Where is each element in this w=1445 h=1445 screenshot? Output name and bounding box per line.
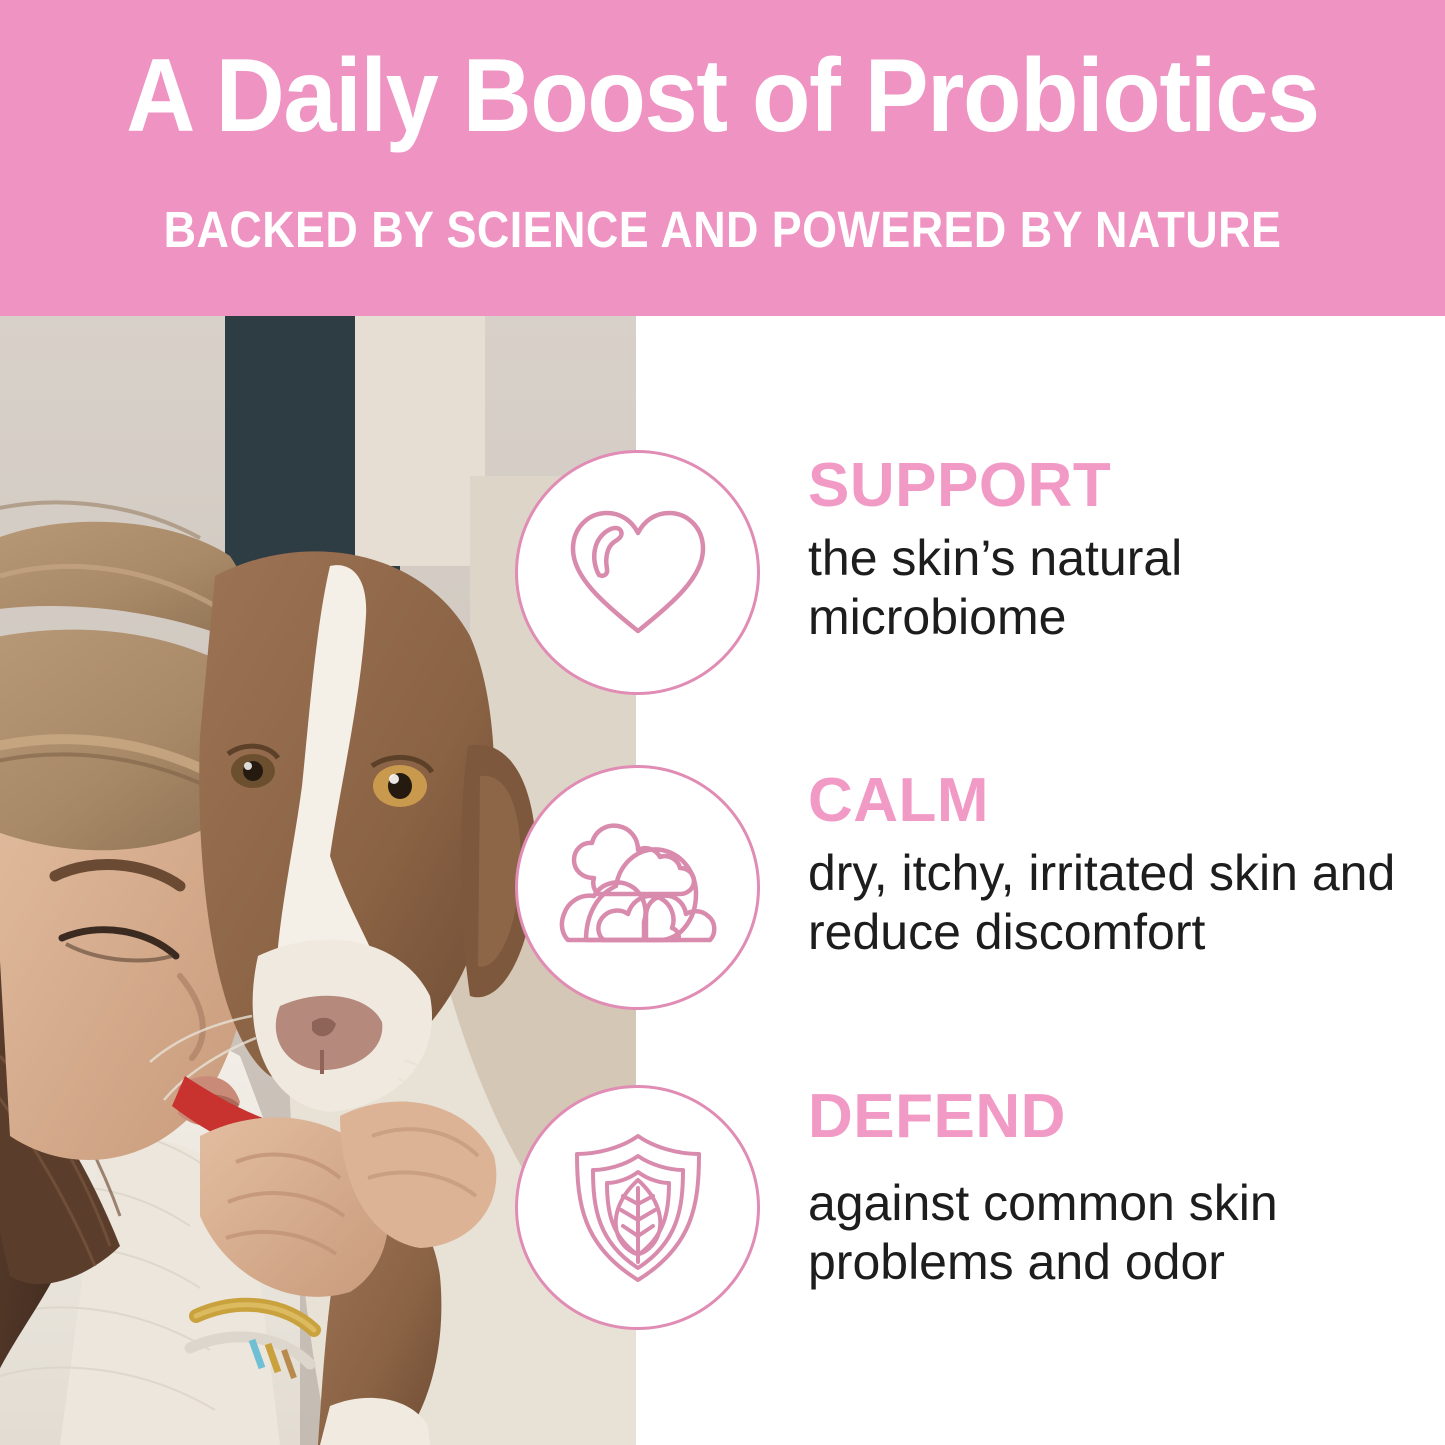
benefit-text-block: DEFEND against common skin problems and … [808, 1085, 1428, 1292]
heart-icon [515, 450, 760, 695]
probiotics-infographic: A Daily Boost of Probiotics BACKED BY SC… [0, 0, 1445, 1445]
benefit-description: dry, itchy, irritated skin and reduce di… [808, 844, 1408, 962]
shield-leaf-icon [515, 1085, 760, 1330]
benefit-heading: SUPPORT [808, 454, 1428, 517]
benefit-description: the skin’s natural microbiome [808, 529, 1408, 647]
benefit-heading: DEFEND [808, 1085, 1428, 1148]
benefit-text-block: SUPPORT the skin’s natural microbiome [808, 454, 1428, 647]
page-subtitle: BACKED BY SCIENCE AND POWERED BY NATURE [87, 204, 1359, 255]
benefit-row: DEFEND against common skin problems and … [0, 1075, 1445, 1335]
benefit-row: CALM dry, itchy, irritated skin and redu… [0, 755, 1445, 1015]
header-banner: A Daily Boost of Probiotics BACKED BY SC… [0, 0, 1445, 316]
benefit-row: SUPPORT the skin’s natural microbiome [0, 440, 1445, 700]
benefit-description: against common skin problems and odor [808, 1174, 1408, 1292]
page-title: A Daily Boost of Probiotics [58, 44, 1387, 148]
benefit-text-block: CALM dry, itchy, irritated skin and redu… [808, 769, 1428, 962]
clouds-icon [515, 765, 760, 1010]
benefit-heading: CALM [808, 769, 1428, 832]
